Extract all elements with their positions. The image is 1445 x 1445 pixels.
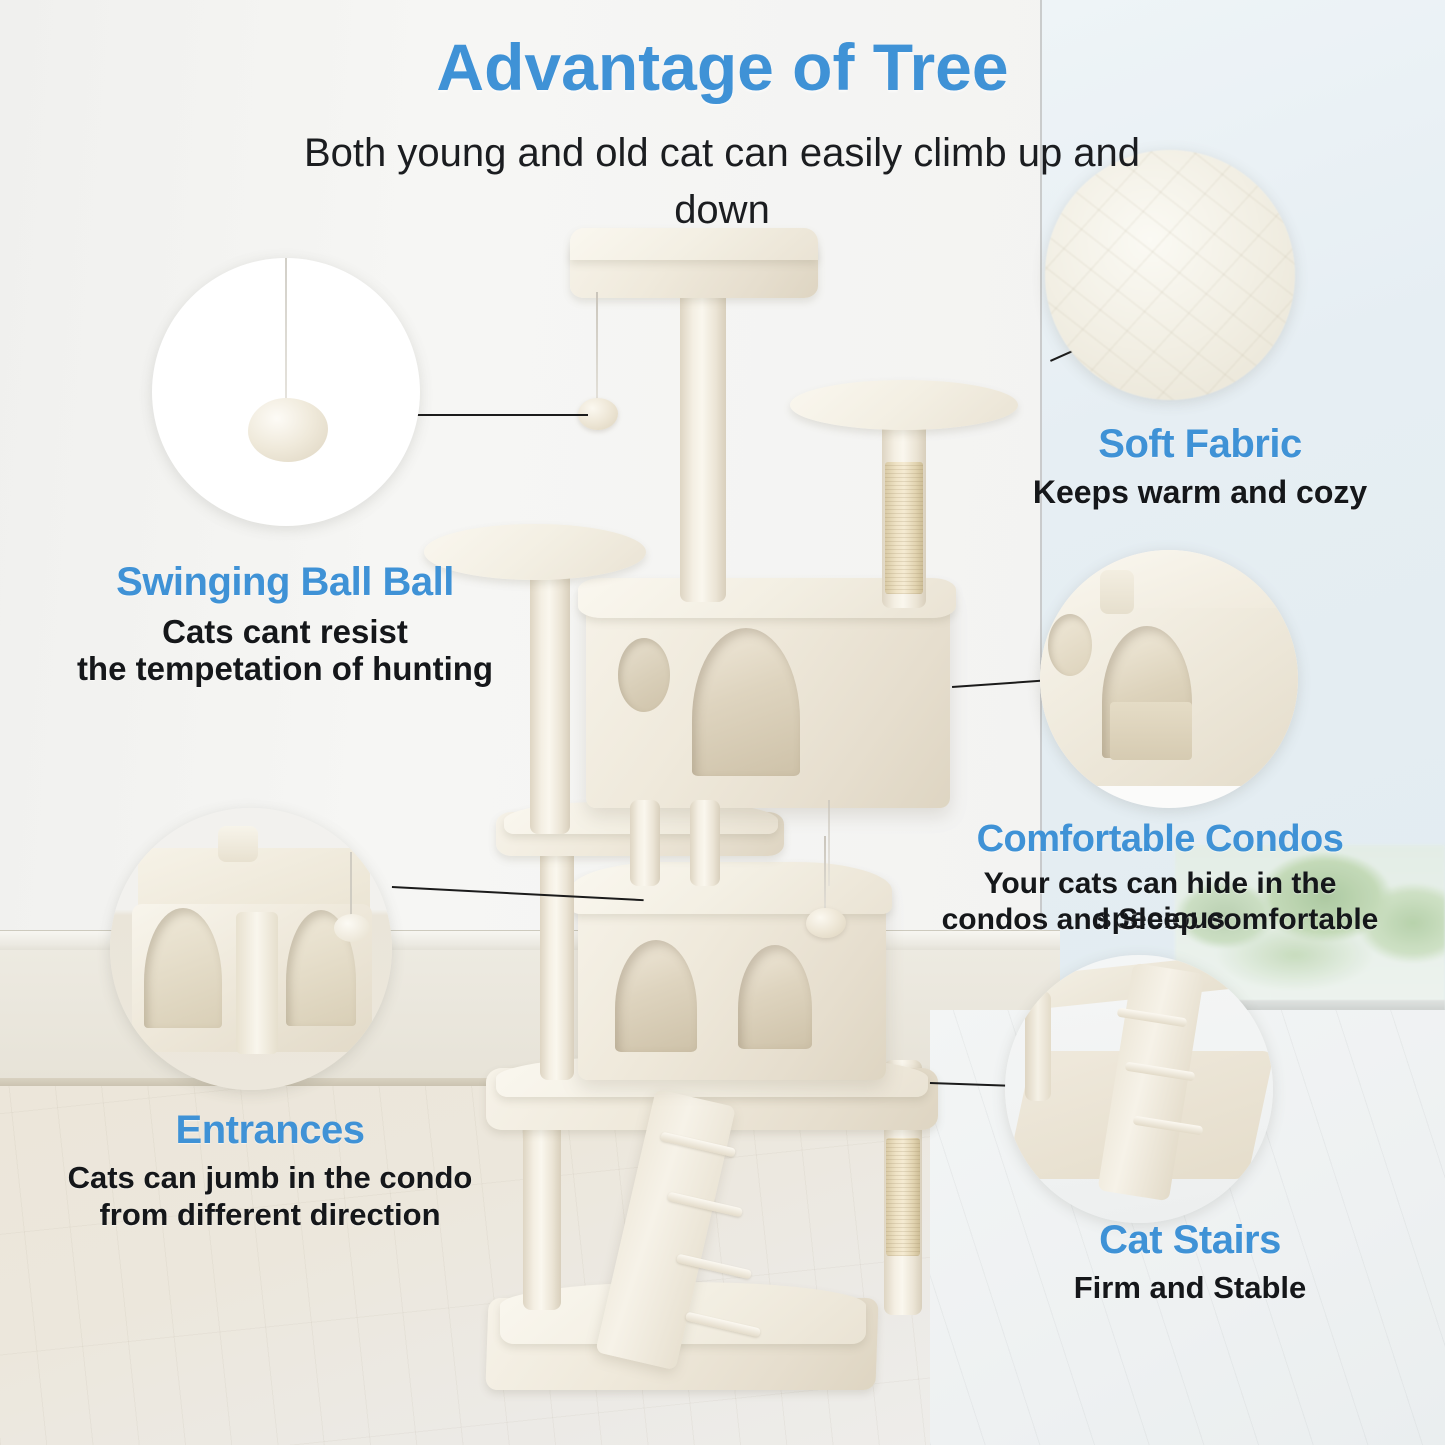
condo-lower-ball-string <box>824 836 826 914</box>
entrance-ball-string-icon <box>350 852 352 918</box>
pompom-string-icon <box>285 258 287 410</box>
sisal-post-right-perch <box>885 462 923 594</box>
callout-desc-comfortable-condos-line2: condos and Sleep comfortable <box>920 902 1400 937</box>
page-subtitle: Both young and old cat can easily climb … <box>272 125 1172 239</box>
condo-upper-window <box>618 638 670 712</box>
condo-upper-ball-string <box>828 800 830 886</box>
post-under-upper-condo-left <box>630 800 660 886</box>
connector-swinging-ball <box>412 414 588 416</box>
condo-post-stub-icon <box>1100 570 1134 614</box>
callout-image-comfortable-condos <box>1040 550 1298 808</box>
callout-title-soft-fabric: Soft Fabric <box>1000 422 1400 467</box>
callout-title-cat-stairs: Cat Stairs <box>1010 1218 1370 1263</box>
callout-desc-entrances-line1: Cats can jumb in the condo <box>50 1160 490 1197</box>
page-title: Advantage of Tree <box>0 34 1445 100</box>
condo-lower-pompom <box>806 908 846 938</box>
post-mid-left <box>540 830 574 1080</box>
entrance-post-stub-icon <box>218 826 258 862</box>
callout-image-entrances <box>110 808 392 1090</box>
callout-desc-cat-stairs-line1: Firm and Stable <box>1010 1270 1370 1307</box>
pompom-ball-icon <box>248 398 328 462</box>
sisal-post-lower-right <box>886 1138 920 1256</box>
infographic-canvas: Advantage of Tree Both young and old cat… <box>0 0 1445 1445</box>
callout-title-comfortable-condos: Comfortable Condos <box>930 818 1390 861</box>
callout-title-entrances: Entrances <box>60 1108 480 1153</box>
callout-image-swinging-ball <box>152 258 420 526</box>
callout-title-swinging-ball: Swinging Ball Ball <box>55 560 515 605</box>
callout-desc-entrances-line2: from different direction <box>50 1197 490 1234</box>
stairs-post-icon <box>1025 991 1051 1101</box>
callout-desc-soft-fabric-line1: Keeps warm and cozy <box>1000 474 1400 512</box>
condo-lower-roof <box>570 862 892 914</box>
entrance-pompom-icon <box>334 914 370 942</box>
callout-desc-swinging-ball-line1: Cats cant resist <box>55 613 515 652</box>
condo-oval-window-icon <box>1048 614 1092 676</box>
top-ball-string <box>596 292 598 402</box>
condo-roof-icon <box>1040 550 1298 608</box>
entrance-corner-column-icon <box>236 912 278 1054</box>
post-left-perch <box>530 568 570 834</box>
callout-desc-swinging-ball-line2: the tempetation of hunting <box>35 650 535 689</box>
callout-image-cat-stairs <box>1005 955 1273 1223</box>
post-top-center <box>680 282 726 602</box>
perch-right-round <box>790 380 1018 430</box>
post-under-upper-condo-right <box>690 800 720 886</box>
condo-interior-floor-icon <box>1110 702 1192 760</box>
post-lower-left <box>523 1110 561 1310</box>
